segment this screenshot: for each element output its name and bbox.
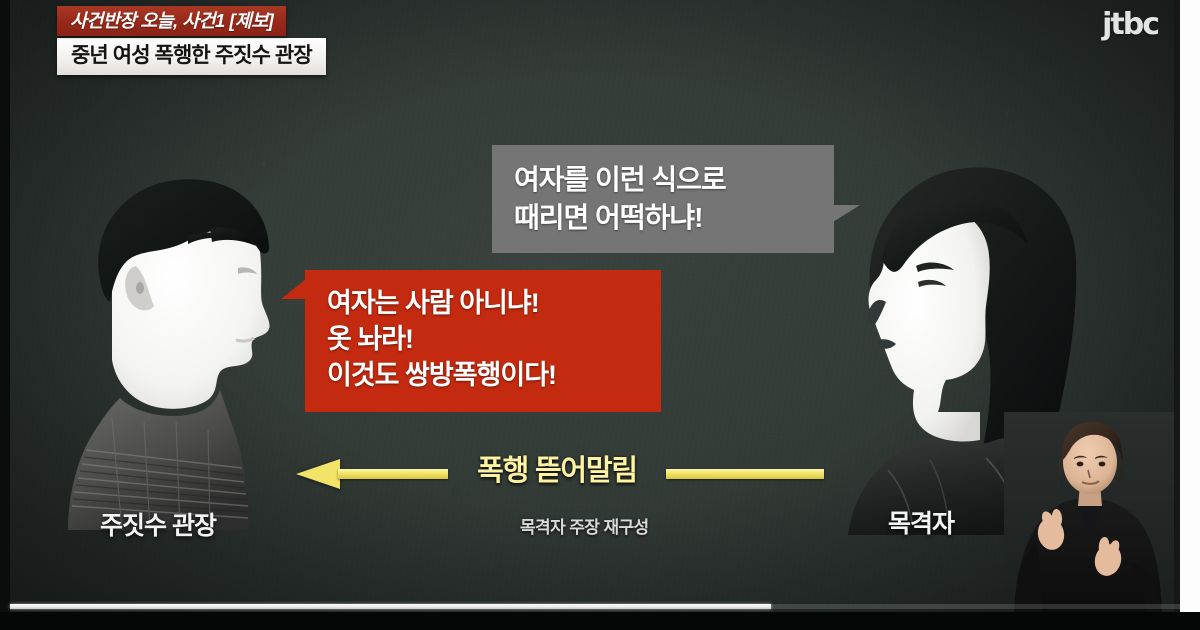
- speech-bubble-tail: [833, 205, 860, 222]
- caption-right-person: 목격자: [888, 504, 954, 540]
- video-progress-fill: [10, 604, 771, 609]
- jtbc-logo: jtbc: [1102, 10, 1158, 40]
- caption-source-note: 목격자 주장 재구성: [520, 513, 649, 538]
- speech-bubble-tail: [281, 279, 306, 299]
- speech-bubble-witness: 여자를 이런 식으로 때리면 어떡하냐!: [492, 145, 834, 253]
- headline-banner: 중년 여성 폭행한 주짓수 관장: [57, 38, 326, 75]
- arrow-shaft-left: [338, 469, 448, 479]
- arrow-label: 폭행 뜯어말림: [450, 450, 664, 494]
- bubble-line: 이것도 쌍방폭행이다!: [327, 357, 643, 393]
- arrow-shaft-right: [666, 469, 824, 479]
- bubble-line: 때리면 어떡하냐!: [514, 199, 814, 237]
- headline-banner-group: 사건반장 오늘, 사건1 [제보] 중년 여성 폭행한 주짓수 관장: [57, 6, 326, 75]
- program-banner: 사건반장 오늘, 사건1 [제보]: [57, 6, 286, 36]
- bubble-line: 여자는 사람 아니냐!: [327, 285, 643, 321]
- speech-bubble-director: 여자는 사람 아니냐! 옷 놔라! 이것도 쌍방폭행이다!: [305, 270, 661, 412]
- bubble-line: 옷 놔라!: [327, 321, 643, 357]
- video-progress-bar[interactable]: [10, 604, 1180, 609]
- letterbox-bottom: [0, 612, 1200, 630]
- arrow-head-icon: [296, 459, 340, 489]
- sign-language-interpreter: [1004, 412, 1174, 612]
- restraint-arrow: 폭행 뜯어말림: [296, 452, 826, 496]
- letterbox-left: [0, 0, 10, 630]
- bubble-line: 여자를 이런 식으로: [514, 161, 814, 199]
- caption-left-person: 주짓수 관장: [100, 506, 216, 542]
- letterbox-right-white: [1180, 0, 1200, 630]
- video-player-frame: 폭행 뜯어말림 여자를 이런 식으로 때리면 어떡하냐! 여자는 사람 아니냐!…: [0, 0, 1200, 630]
